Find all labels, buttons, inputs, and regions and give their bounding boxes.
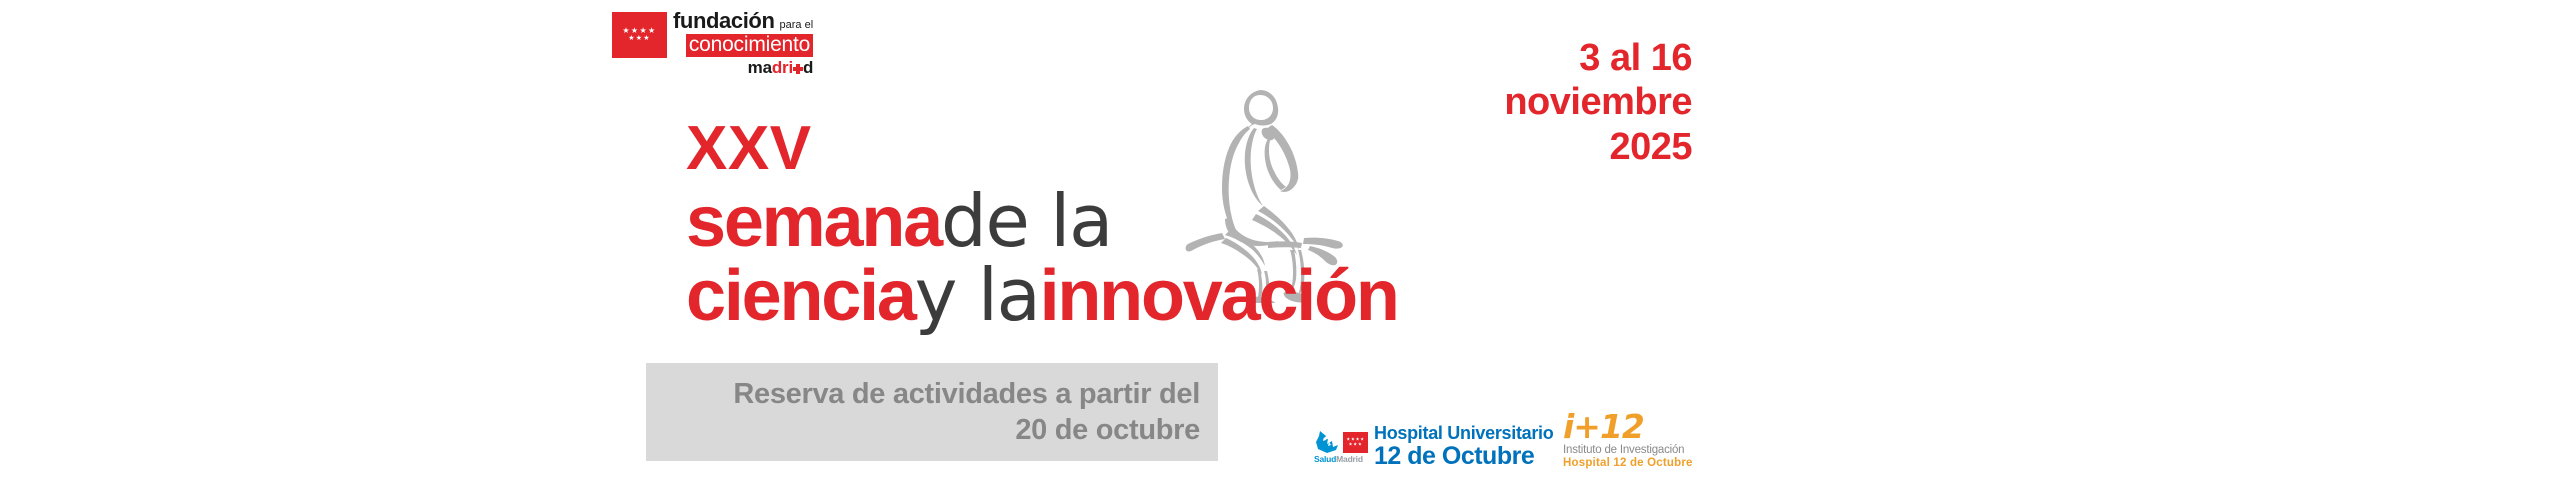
date-line-2: noviembre [1504,80,1692,124]
page-title: XXV semanade la cienciay lainnovación [686,118,1398,331]
conocimiento-bar: conocimiento [686,34,813,57]
shield-stars: ★★★★ ★★★ [612,27,667,43]
i12-line-2: Hospital 12 de Octubre [1563,457,1688,470]
title-line-2: cienciay lainnovación [686,260,1398,332]
madrid-word: madrid [748,59,813,78]
title-innovacion: innovación [1040,256,1398,336]
madrid-suffix: d [803,58,813,77]
saludmadrid-flower-icon [1314,430,1340,454]
title-de-la: de la [941,179,1112,263]
hospital-universitario-12-de-octubre-logo[interactable]: ★★★★★★★ SaludMadrid Hospital Universitar… [1314,424,1553,470]
i-mas-12-mark: i+12 [1563,410,1688,444]
title-ciencia: ciencia [686,256,915,336]
title-line-1: semanade la [686,186,1398,258]
madrid-red-part: dri [772,58,793,77]
shield-stars: ★★★★★★★ [1343,438,1368,447]
madrid-prefix: ma [748,58,772,77]
salud-word: Salud [1314,454,1336,464]
madrid-word-gray: Madrid [1336,454,1363,464]
saludmadrid-wordmark: SaludMadrid [1314,455,1363,464]
i-mas-12-instituto-investigacion-logo[interactable]: i+12 Instituto de Investigación Hospital… [1563,410,1688,470]
reserva-line-1: Reserva de actividades a partir del [733,376,1200,412]
fundacion-conocimiento-madrid-logo[interactable]: ★★★★ ★★★ fundación para el conocimiento … [612,10,844,76]
madrid-stars-shield-icon: ★★★★ ★★★ [612,12,667,58]
date-line-1: 3 al 16 [1504,36,1692,80]
fundacion-logo-text: fundación para el conocimiento madrid [673,10,813,78]
event-date-block: 3 al 16 noviembre 2025 [1504,36,1692,169]
i12-line-1: Instituto de Investigación [1563,444,1688,457]
para-el-word: para el [780,20,814,31]
reserva-notice-box: Reserva de actividades a partir del 20 d… [646,363,1218,461]
hospital-marks-row: ★★★★★★★ [1314,430,1368,454]
hospital-line-1: Hospital Universitario [1374,424,1553,443]
edition-number: XXV [686,118,1398,180]
title-semana: semana [686,182,941,262]
semana-ciencia-banner: ★★★★ ★★★ fundación para el conocimiento … [0,0,2560,477]
reserva-line-2: 20 de octubre [1015,412,1200,448]
hospital-logo-marks: ★★★★★★★ SaludMadrid [1314,430,1368,464]
fundacion-logo-line1: fundación para el [673,10,813,32]
date-line-3: 2025 [1504,125,1692,169]
title-y-la: y la [915,253,1040,337]
fundacion-word: fundación [673,10,775,32]
hospital-logo-text: Hospital Universitario 12 de Octubre [1374,424,1553,469]
madrid-stars-shield-icon: ★★★★★★★ [1343,432,1368,453]
hospital-line-2: 12 de Octubre [1374,443,1553,469]
madrid-cross-icon [793,64,803,74]
